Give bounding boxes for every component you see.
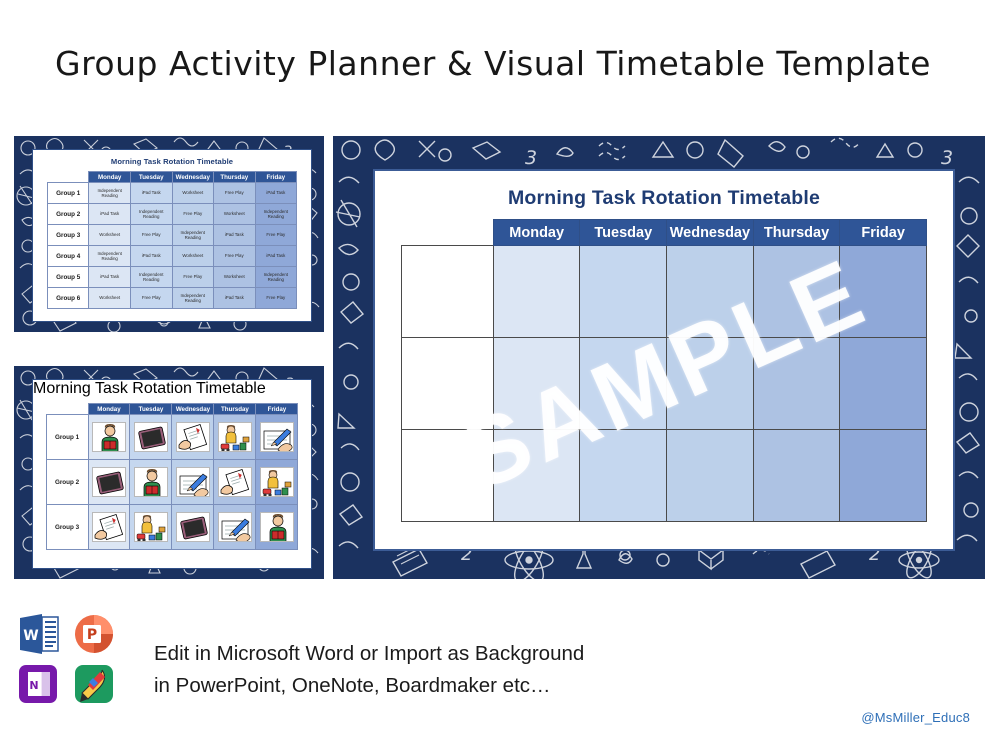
- main-day-header-friday: Friday: [840, 220, 927, 246]
- thumb-visual-title: Morning Task Rotation Timetable: [33, 380, 311, 398]
- main-timetable-table: Monday Tuesday Wednesday Thursday Friday: [401, 219, 927, 522]
- mini-cell: Independent Reading: [130, 204, 172, 225]
- main-cell-empty[interactable]: [753, 246, 840, 338]
- visual-row-label: Group 2: [46, 460, 88, 505]
- main-cell-empty[interactable]: [667, 246, 754, 338]
- thumb-text-page: Morning Task Rotation Timetable Monday T…: [32, 149, 312, 322]
- mini-day-header-tuesday: Tuesday: [130, 172, 172, 183]
- mini-cell: iPad Task: [130, 183, 172, 204]
- main-day-header-monday: Monday: [493, 220, 580, 246]
- writing-hand-icon: [260, 422, 294, 452]
- table-row: Group 4 Independent Reading iPad Task Wo…: [47, 246, 296, 267]
- svg-text:N: N: [29, 679, 38, 692]
- table-row: Group 2 iPad Task Independent Reading Fr…: [47, 204, 296, 225]
- main-cell-empty[interactable]: [753, 338, 840, 430]
- visual-cell: [256, 415, 298, 460]
- visual-day-header-thursday: Thursday: [214, 404, 256, 415]
- worksheet-hand-icon: [176, 422, 210, 452]
- thumb-text-title: Morning Task Rotation Timetable: [33, 157, 311, 166]
- visual-cell: [88, 505, 130, 550]
- mini-header-row: Monday Tuesday Wednesday Thursday Friday: [47, 172, 296, 183]
- main-day-header-wednesday: Wednesday: [667, 220, 754, 246]
- main-cell-empty[interactable]: [667, 338, 754, 430]
- table-row: [402, 246, 927, 338]
- microsoft-powerpoint-icon: P: [72, 612, 118, 656]
- mini-cell: iPad Task: [89, 267, 131, 288]
- mini-cell: Independent Reading: [130, 267, 172, 288]
- thumb-visual-page: Morning Task Rotation Timetable Monday T…: [32, 379, 312, 569]
- free-play-toys-icon: [260, 467, 294, 497]
- free-play-toys-icon: [218, 422, 252, 452]
- author-handle: @MsMiller_Educ8: [861, 710, 970, 725]
- main-row-header[interactable]: [402, 338, 494, 430]
- visual-day-header-tuesday: Tuesday: [130, 404, 172, 415]
- worksheet-hand-icon: [92, 512, 126, 542]
- footer-instructions: Edit in Microsoft Word or Import as Back…: [154, 638, 584, 702]
- mini-cell: Independent Reading: [89, 246, 131, 267]
- main-cell-empty[interactable]: [493, 338, 580, 430]
- mini-row-label: Group 2: [47, 204, 89, 225]
- main-cell-empty[interactable]: [753, 430, 840, 522]
- boardmaker-icon: [72, 662, 118, 706]
- mini-row-label: Group 1: [47, 183, 89, 204]
- mini-cell: iPad Task: [214, 225, 256, 246]
- tablet-icon: [92, 467, 126, 497]
- visual-cell: [214, 415, 256, 460]
- mini-day-header-wednesday: Wednesday: [172, 172, 214, 183]
- mini-cell: iPad Task: [130, 246, 172, 267]
- mini-cell: Worksheet: [172, 246, 214, 267]
- mini-row-label: Group 4: [47, 246, 89, 267]
- mini-row-label: Group 6: [47, 288, 89, 309]
- table-row: Group 1: [46, 415, 298, 460]
- mini-cell: Free Play: [172, 204, 214, 225]
- main-preview-page: Morning Task Rotation Timetable Monday T…: [373, 169, 955, 551]
- mini-cell: Free Play: [130, 225, 172, 246]
- thumbnail-text-timetable[interactable]: 3: [14, 136, 324, 332]
- footer-line-1: Edit in Microsoft Word or Import as Back…: [154, 638, 584, 670]
- worksheet-hand-icon: [218, 467, 252, 497]
- visual-cell: [130, 505, 172, 550]
- visual-row-label: Group 3: [46, 505, 88, 550]
- mini-cell: Free Play: [130, 288, 172, 309]
- mini-cell: Worksheet: [89, 225, 131, 246]
- main-table-body: [402, 246, 927, 522]
- main-corner-cell: [402, 220, 494, 246]
- visual-timetable-table: Monday Tuesday Wednesday Thursday Friday…: [46, 403, 299, 550]
- mini-row-label: Group 5: [47, 267, 89, 288]
- mini-row-label: Group 3: [47, 225, 89, 246]
- mini-cell: Worksheet: [89, 288, 131, 309]
- tablet-icon: [176, 512, 210, 542]
- table-row: Group 2: [46, 460, 298, 505]
- visual-cell: [172, 460, 214, 505]
- main-cell-empty[interactable]: [580, 246, 667, 338]
- mini-day-header-thursday: Thursday: [214, 172, 256, 183]
- mini-cell: iPad Task: [255, 183, 297, 204]
- mini-cell: iPad Task: [255, 246, 297, 267]
- mini-cell: Worksheet: [214, 204, 256, 225]
- mini-cell: Independent Reading: [172, 225, 214, 246]
- visual-cell: [130, 460, 172, 505]
- mini-timetable-table: Monday Tuesday Wednesday Thursday Friday…: [47, 171, 297, 309]
- mini-cell: Free Play: [214, 246, 256, 267]
- visual-corner-cell: [46, 404, 88, 415]
- reading-child-icon: [92, 422, 126, 452]
- visual-day-header-wednesday: Wednesday: [172, 404, 214, 415]
- writing-hand-icon: [218, 512, 252, 542]
- visual-table-body: Group 1: [46, 415, 298, 550]
- mini-cell: iPad Task: [214, 288, 256, 309]
- main-row-header[interactable]: [402, 246, 494, 338]
- microsoft-word-icon: W: [16, 612, 62, 656]
- visual-day-header-friday: Friday: [256, 404, 298, 415]
- mini-day-header-friday: Friday: [255, 172, 297, 183]
- mini-cell: Free Play: [255, 288, 297, 309]
- tablet-icon: [134, 422, 168, 452]
- main-header-row: Monday Tuesday Wednesday Thursday Friday: [402, 220, 927, 246]
- main-cell-empty[interactable]: [580, 430, 667, 522]
- visual-cell: [172, 505, 214, 550]
- reading-child-icon: [134, 467, 168, 497]
- main-day-header-tuesday: Tuesday: [580, 220, 667, 246]
- writing-hand-icon: [176, 467, 210, 497]
- mini-cell: Independent Reading: [89, 183, 131, 204]
- reading-child-icon: [260, 512, 294, 542]
- mini-cell: Free Play: [214, 183, 256, 204]
- visual-cell: [88, 460, 130, 505]
- free-play-toys-icon: [134, 512, 168, 542]
- main-preview-title: Morning Task Rotation Timetable: [375, 187, 953, 210]
- main-cell-empty[interactable]: [580, 338, 667, 430]
- mini-cell: Independent Reading: [255, 204, 297, 225]
- mini-day-header-monday: Monday: [89, 172, 131, 183]
- table-row: [402, 430, 927, 522]
- mini-cell: Independent Reading: [172, 288, 214, 309]
- visual-cell: [256, 460, 298, 505]
- mini-cell: Worksheet: [172, 183, 214, 204]
- visual-day-header-monday: Monday: [88, 404, 130, 415]
- table-row: Group 6 Worksheet Free Play Independent …: [47, 288, 296, 309]
- svg-text:P: P: [87, 627, 97, 643]
- main-cell-empty[interactable]: [840, 338, 927, 430]
- mini-cell: Worksheet: [214, 267, 256, 288]
- app-logo-grid: W P N: [16, 612, 128, 706]
- visual-cell: [214, 505, 256, 550]
- mini-table-body: Group 1 Independent Reading iPad Task Wo…: [47, 183, 296, 309]
- mini-cell: Free Play: [172, 267, 214, 288]
- footer-block: W P N: [14, 612, 714, 712]
- visual-cell: [172, 415, 214, 460]
- microsoft-onenote-icon: N: [16, 662, 62, 706]
- visual-row-label: Group 1: [46, 415, 88, 460]
- main-row-header[interactable]: [402, 430, 494, 522]
- main-cell-empty[interactable]: [840, 246, 927, 338]
- table-row: Group 1 Independent Reading iPad Task Wo…: [47, 183, 296, 204]
- main-cell-empty[interactable]: [667, 430, 754, 522]
- table-row: Group 5 iPad Task Independent Reading Fr…: [47, 267, 296, 288]
- svg-text:3: 3: [941, 147, 953, 169]
- visual-cell: [256, 505, 298, 550]
- mini-cell: iPad Task: [89, 204, 131, 225]
- page-title: Group Activity Planner & Visual Timetabl…: [0, 44, 986, 83]
- visual-cell: [88, 415, 130, 460]
- svg-text:3: 3: [525, 147, 537, 169]
- footer-line-2: in PowerPoint, OneNote, Boardmaker etc…: [154, 670, 584, 702]
- mini-cell: Independent Reading: [255, 267, 297, 288]
- visual-cell: [130, 415, 172, 460]
- table-row: Group 3 Worksheet Free Play Independent …: [47, 225, 296, 246]
- main-cell-empty[interactable]: [493, 246, 580, 338]
- mini-corner-cell: [47, 172, 89, 183]
- main-day-header-thursday: Thursday: [753, 220, 840, 246]
- table-row: [402, 338, 927, 430]
- main-cell-empty[interactable]: [840, 430, 927, 522]
- visual-cell: [214, 460, 256, 505]
- table-row: Group 3: [46, 505, 298, 550]
- main-cell-empty[interactable]: [493, 430, 580, 522]
- visual-header-row: Monday Tuesday Wednesday Thursday Friday: [46, 404, 298, 415]
- thumbnail-visual-timetable[interactable]: 3: [14, 366, 324, 579]
- mini-cell: Free Play: [255, 225, 297, 246]
- svg-text:W: W: [23, 628, 38, 644]
- main-preview-panel[interactable]: 3 3: [333, 136, 985, 579]
